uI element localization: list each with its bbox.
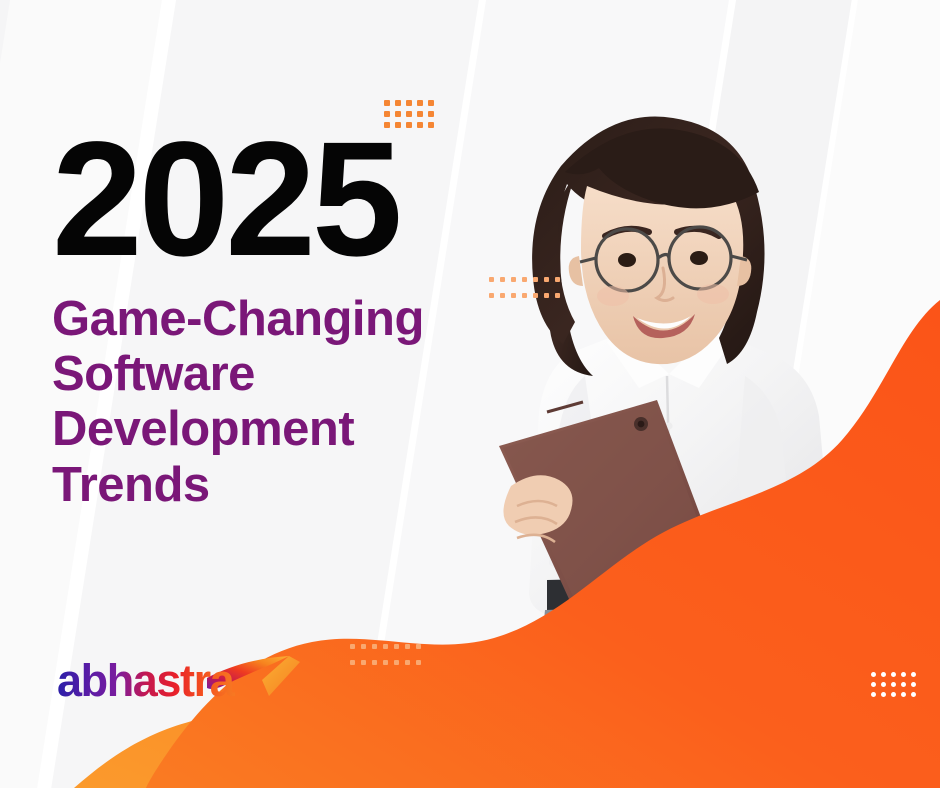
text-block: 2025 Game-Changing Software Development … xyxy=(52,132,572,513)
logo-wordmark: abhastra xyxy=(57,655,236,706)
dot-grid-icon xyxy=(871,672,916,697)
headline: Game-Changing Software Development Trend… xyxy=(52,292,572,513)
year-heading: 2025 xyxy=(52,132,572,266)
headline-line: Software xyxy=(52,347,572,402)
promo-banner: 2025 Game-Changing Software Development … xyxy=(0,0,940,788)
headline-line: Trends xyxy=(52,458,572,513)
abhastra-logo[interactable]: abhastra xyxy=(57,650,307,706)
dot-grid-icon xyxy=(350,644,421,665)
headline-line: Development xyxy=(52,402,572,457)
headline-line: Game-Changing xyxy=(52,292,572,347)
